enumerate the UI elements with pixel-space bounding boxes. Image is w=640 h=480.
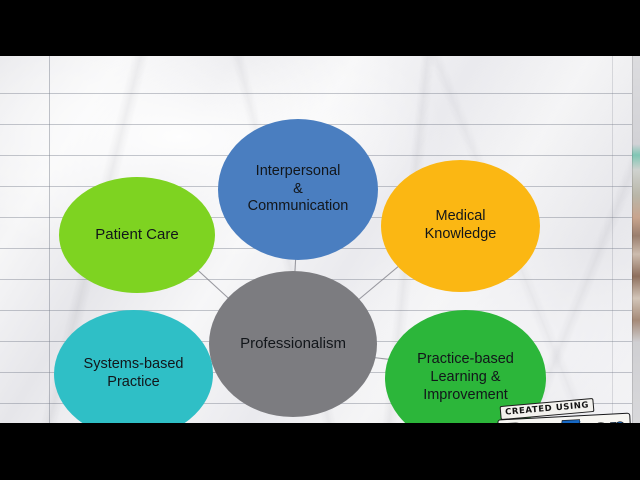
- node-medical-knowledge[interactable]: Medical Knowledge: [381, 160, 540, 292]
- powtoon-logo-toon: Toon: [560, 413, 625, 423]
- node-systems-based-line-1: Systems-based: [84, 356, 184, 372]
- letterbox-bar-top: [0, 0, 640, 56]
- node-professionalism-label: Professionalism: [234, 335, 352, 353]
- video-slide-frame: Patient Care Interpersonal & Communicati…: [0, 0, 640, 480]
- node-patient-care-label: Patient Care: [89, 226, 184, 244]
- node-practice-based-label: Practice-based Learning & Improvement: [411, 351, 520, 404]
- node-systems-based-practice-label: Systems-based Practice: [78, 356, 190, 391]
- powtoon-watermark[interactable]: CREATED USING PowToon: [498, 402, 620, 423]
- node-practice-based-line-1: Practice-based: [417, 351, 514, 367]
- node-medical-knowledge-line-2: Knowledge: [425, 226, 497, 242]
- notebook-paper-background: Patient Care Interpersonal & Communicati…: [0, 56, 640, 423]
- spiral-binding-edge: [632, 56, 640, 423]
- node-interpersonal-line-1: Interpersonal: [256, 163, 341, 179]
- node-patient-care[interactable]: Patient Care: [59, 177, 215, 293]
- node-interpersonal-communication[interactable]: Interpersonal & Communication: [218, 119, 378, 260]
- node-interpersonal-line-3: Communication: [248, 198, 349, 214]
- node-systems-based-line-2: Practice: [107, 374, 159, 390]
- node-practice-based-line-3: Improvement: [423, 387, 508, 403]
- node-medical-knowledge-label: Medical Knowledge: [419, 208, 503, 243]
- node-professionalism-center[interactable]: Professionalism: [209, 271, 377, 417]
- node-interpersonal-line-2: &: [293, 181, 303, 197]
- node-practice-based-line-2: Learning &: [430, 369, 500, 385]
- letterbox-bar-bottom: [0, 423, 640, 480]
- node-medical-knowledge-line-1: Medical: [436, 208, 486, 224]
- node-interpersonal-communication-label: Interpersonal & Communication: [242, 163, 355, 216]
